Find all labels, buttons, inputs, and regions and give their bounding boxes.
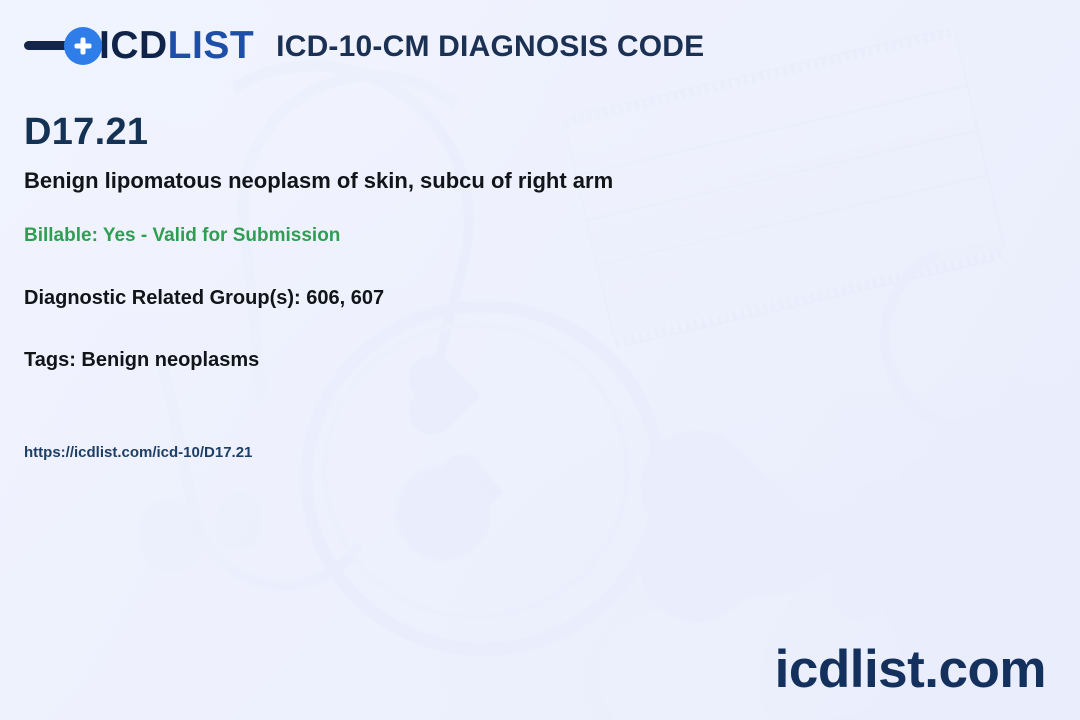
icdlist-logo[interactable]: ICDLIST	[24, 26, 254, 65]
card-content: ICDLIST ICD-10-CM DIAGNOSIS CODE D17.21 …	[0, 0, 1080, 720]
diagnostic-related-groups: Diagnostic Related Group(s): 606, 607	[24, 286, 384, 311]
diagnosis-description: Benign lipomatous neoplasm of skin, subc…	[24, 167, 613, 195]
logo-wordmark: ICDLIST	[99, 26, 254, 65]
page-title: ICD-10-CM DIAGNOSIS CODE	[276, 32, 704, 62]
brand-footer: icdlist.com	[775, 643, 1046, 696]
diagnosis-code: D17.21	[24, 112, 148, 154]
page-header: ICDLIST ICD-10-CM DIAGNOSIS CODE	[24, 26, 704, 65]
logo-word-list: LIST	[168, 24, 255, 67]
icd-code-card: ICDLIST ICD-10-CM DIAGNOSIS CODE D17.21 …	[0, 0, 1080, 720]
billable-status: Billable: Yes - Valid for Submission	[24, 224, 340, 248]
source-url[interactable]: https://icdlist.com/icd-10/D17.21	[24, 444, 252, 463]
logo-word-icd: ICD	[99, 24, 168, 67]
tags-line: Tags: Benign neoplasms	[24, 348, 259, 373]
plus-circle-icon	[64, 27, 102, 65]
